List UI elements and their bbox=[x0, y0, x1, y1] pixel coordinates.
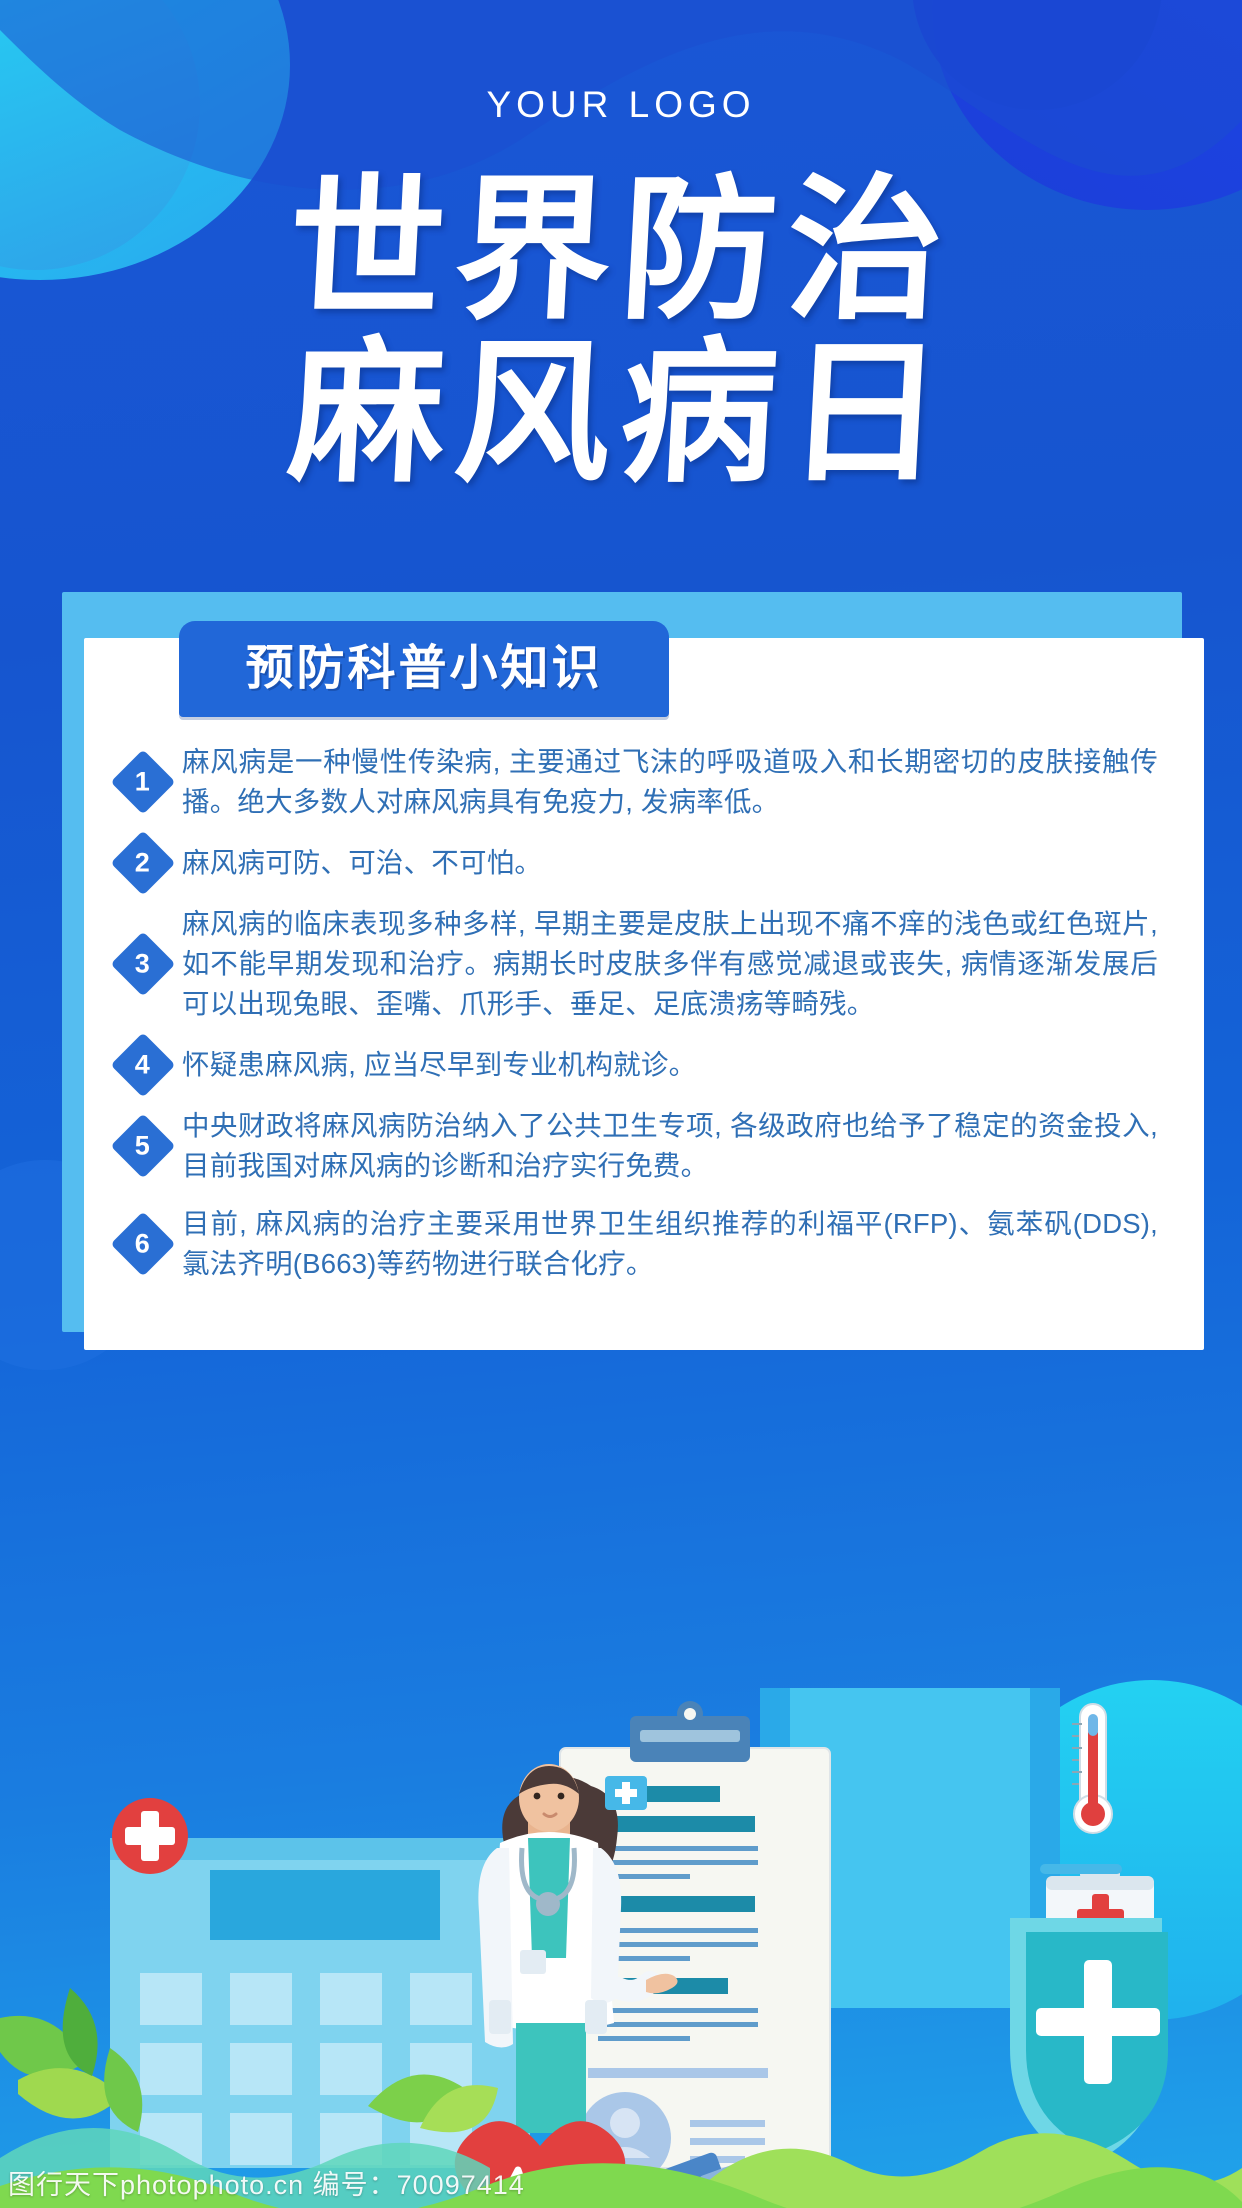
tip-text: 麻风病是一种慢性传染病, 主要通过飞沫的呼吸道吸入和长期密切的皮肤接触传播。绝大… bbox=[182, 742, 1158, 822]
list-item: 2 麻风病可防、可治、不可怕。 bbox=[120, 840, 1158, 886]
list-item: 6 目前, 麻风病的治疗主要采用世界卫生组织推荐的利福平(RFP)、氨苯矾(DD… bbox=[120, 1204, 1158, 1284]
poster-root: YOUR LOGO 世界防治 麻风病日 共建和谐社会 消除麻风歧视 预防科普小知… bbox=[0, 0, 1242, 2208]
tip-number-badge: 6 bbox=[110, 1211, 175, 1276]
list-item: 5 中央财政将麻风病防治纳入了公共卫生专项, 各级政府也给予了稳定的资金投入, … bbox=[120, 1106, 1158, 1186]
shield-cross-icon bbox=[1010, 1918, 1168, 2166]
red-cross-icon bbox=[112, 1798, 188, 1874]
tip-text: 怀疑患麻风病, 应当尽早到专业机构就诊。 bbox=[182, 1045, 1158, 1085]
tip-number: 5 bbox=[135, 1133, 150, 1160]
card-tab-wrap: 预防科普小知识 bbox=[84, 637, 1204, 733]
tip-number-badge: 5 bbox=[110, 1113, 175, 1178]
tip-number: 3 bbox=[135, 951, 150, 978]
tips-list: 1 麻风病是一种慢性传染病, 主要通过飞沫的呼吸道吸入和长期密切的皮肤接触传播。… bbox=[84, 742, 1204, 1302]
list-item: 4 怀疑患麻风病, 应当尽早到专业机构就诊。 bbox=[120, 1042, 1158, 1088]
title-line-1: 世界防治 bbox=[0, 172, 1242, 327]
tip-number: 4 bbox=[135, 1052, 150, 1079]
tip-text: 麻风病可防、可治、不可怕。 bbox=[182, 843, 1158, 883]
page-title: 世界防治 麻风病日 bbox=[0, 172, 1242, 490]
list-item: 1 麻风病是一种慢性传染病, 主要通过飞沫的呼吸道吸入和长期密切的皮肤接触传播。… bbox=[120, 742, 1158, 822]
tip-text: 目前, 麻风病的治疗主要采用世界卫生组织推荐的利福平(RFP)、氨苯矾(DDS)… bbox=[182, 1204, 1158, 1284]
tip-text: 麻风病的临床表现多种多样, 早期主要是皮肤上出现不痛不痒的浅色或红色斑片, 如不… bbox=[182, 904, 1158, 1024]
card-tab-banner: 预防科普小知识 bbox=[179, 621, 669, 717]
tip-number: 2 bbox=[135, 850, 150, 877]
tip-number-badge: 2 bbox=[110, 830, 175, 895]
bottom-illustration bbox=[0, 1688, 1242, 2208]
tip-number: 6 bbox=[135, 1231, 150, 1258]
tip-number-badge: 4 bbox=[110, 1032, 175, 1097]
list-item: 3 麻风病的临床表现多种多样, 早期主要是皮肤上出现不痛不痒的浅色或红色斑片, … bbox=[120, 904, 1158, 1024]
title-line-2: 麻风病日 bbox=[0, 335, 1242, 490]
knowledge-card: 预防科普小知识 1 麻风病是一种慢性传染病, 主要通过飞沫的呼吸道吸入和长期密切… bbox=[84, 638, 1204, 1350]
medicine-box-icon bbox=[605, 1776, 647, 1810]
card-tab-title: 预防科普小知识 bbox=[179, 621, 669, 717]
watermark-text: 图行天下photophoto.cn 编号：70097414 bbox=[8, 2163, 525, 2202]
tip-text: 中央财政将麻风病防治纳入了公共卫生专项, 各级政府也给予了稳定的资金投入, 目前… bbox=[182, 1106, 1158, 1186]
tip-number-badge: 3 bbox=[110, 931, 175, 996]
logo-text: YOUR LOGO bbox=[0, 84, 1242, 126]
thermometer-icon bbox=[1072, 1704, 1112, 1833]
tip-number-badge: 1 bbox=[110, 749, 175, 814]
tip-number: 1 bbox=[135, 769, 150, 796]
